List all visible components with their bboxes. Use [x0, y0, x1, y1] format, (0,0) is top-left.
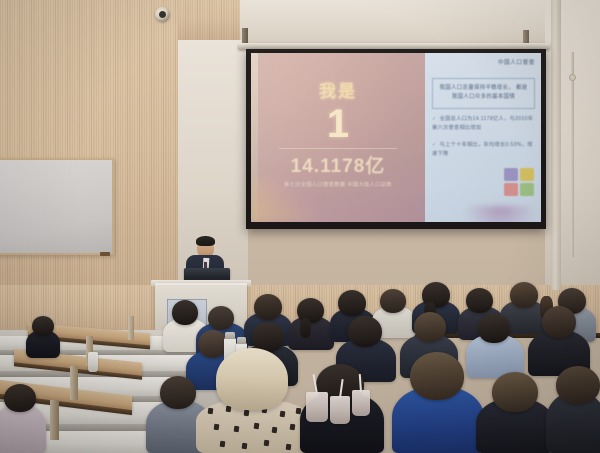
projection-screen: 我是 1 14.1178亿 第七次全国人口普查数据 中国大陆人口总数 中国人口普… [246, 49, 546, 229]
slide-color-swatches [504, 168, 534, 196]
attendee-head [254, 294, 282, 320]
slide-logo: 中国人口普查 [498, 58, 535, 66]
paper-cup [88, 352, 98, 372]
seat-divider [50, 400, 59, 440]
swatch-red [504, 183, 518, 196]
attendee-head [4, 384, 36, 412]
presentation-slide: 我是 1 14.1178亿 第七次全国人口普查数据 中国大陆人口总数 中国人口普… [251, 53, 541, 222]
slide-hero-number: 1 [251, 104, 425, 144]
slide-bullet-2: ✓与上个十年相比，年均增长0.53%，增速下降 [432, 141, 535, 160]
drink-cup [330, 396, 350, 424]
attendee-blonde-hair [216, 348, 288, 410]
attendee-head [380, 289, 406, 313]
seat-divider [70, 366, 78, 400]
drink-cup [306, 392, 328, 422]
attendee-head [348, 316, 382, 347]
wall-plaster-top [240, 0, 555, 48]
slide-hero-divider [279, 148, 397, 149]
whiteboard-marker-tray [100, 252, 110, 256]
attendee-head [466, 288, 493, 313]
attendee-head [410, 352, 464, 400]
swatch-yellow [520, 168, 534, 181]
attendee-head [32, 316, 54, 336]
seat-divider [128, 316, 134, 340]
wall-panel-upper-left [178, 0, 240, 40]
slide-bullet-1: ✓全国总人口为14.1178亿人，与2010年第六次普查相比增加 [432, 115, 535, 134]
attendee-head [478, 314, 510, 343]
attendee-head [338, 290, 366, 316]
attendee-head [492, 372, 538, 412]
attendee-head [208, 306, 234, 330]
attendee-head [160, 376, 196, 409]
wall-pilaster [551, 0, 561, 290]
presenter-hair [196, 236, 215, 246]
swatch-purple [504, 168, 518, 181]
wall-conduit [571, 52, 574, 257]
attendee-head [510, 282, 538, 308]
drink-cup [352, 390, 370, 416]
ceiling-speaker-icon [155, 7, 170, 22]
wall-conduit-cap [569, 74, 576, 81]
attendee-head [172, 300, 198, 325]
attendee-head [556, 366, 600, 404]
slide-right-panel: 中国人口普查 我国人口总量保持平稳增长， 都是我国人口众多的基本国情 ✓全国总人… [425, 53, 541, 222]
slide-hero-subtitle: 第七次全国人口普查数据 中国大陆人口总数 [251, 181, 425, 190]
thermos-cap [225, 332, 235, 339]
attendee-head [542, 306, 576, 338]
lecture-hall-photo: 我是 1 14.1178亿 第七次全国人口普查数据 中国大陆人口总数 中国人口普… [0, 0, 600, 453]
thermos-cap [237, 337, 246, 344]
slide-hero-amount: 14.1178亿 [251, 151, 425, 178]
check-icon: ✓ [432, 116, 437, 122]
slide-left-panel: 我是 1 14.1178亿 第七次全国人口普查数据 中国大陆人口总数 [251, 53, 425, 222]
slide-bullet-2-text: 与上个十年相比，年均增长0.53%，增速下降 [432, 142, 533, 157]
attendee-head [414, 312, 446, 342]
wall-whiteboard [0, 158, 114, 255]
slide-decorative-blob [464, 206, 536, 222]
slide-bullet-1-text: 全国总人口为14.1178亿人，与2010年第六次普查相比增加 [432, 116, 533, 131]
slide-hero-title: 我是 [251, 77, 425, 102]
slide-callout-box: 我国人口总量保持平稳增长， 都是我国人口众多的基本国情 [432, 78, 535, 109]
attendee-ponytail [300, 318, 311, 338]
check-icon: ✓ [432, 142, 437, 148]
swatch-green [520, 183, 534, 196]
